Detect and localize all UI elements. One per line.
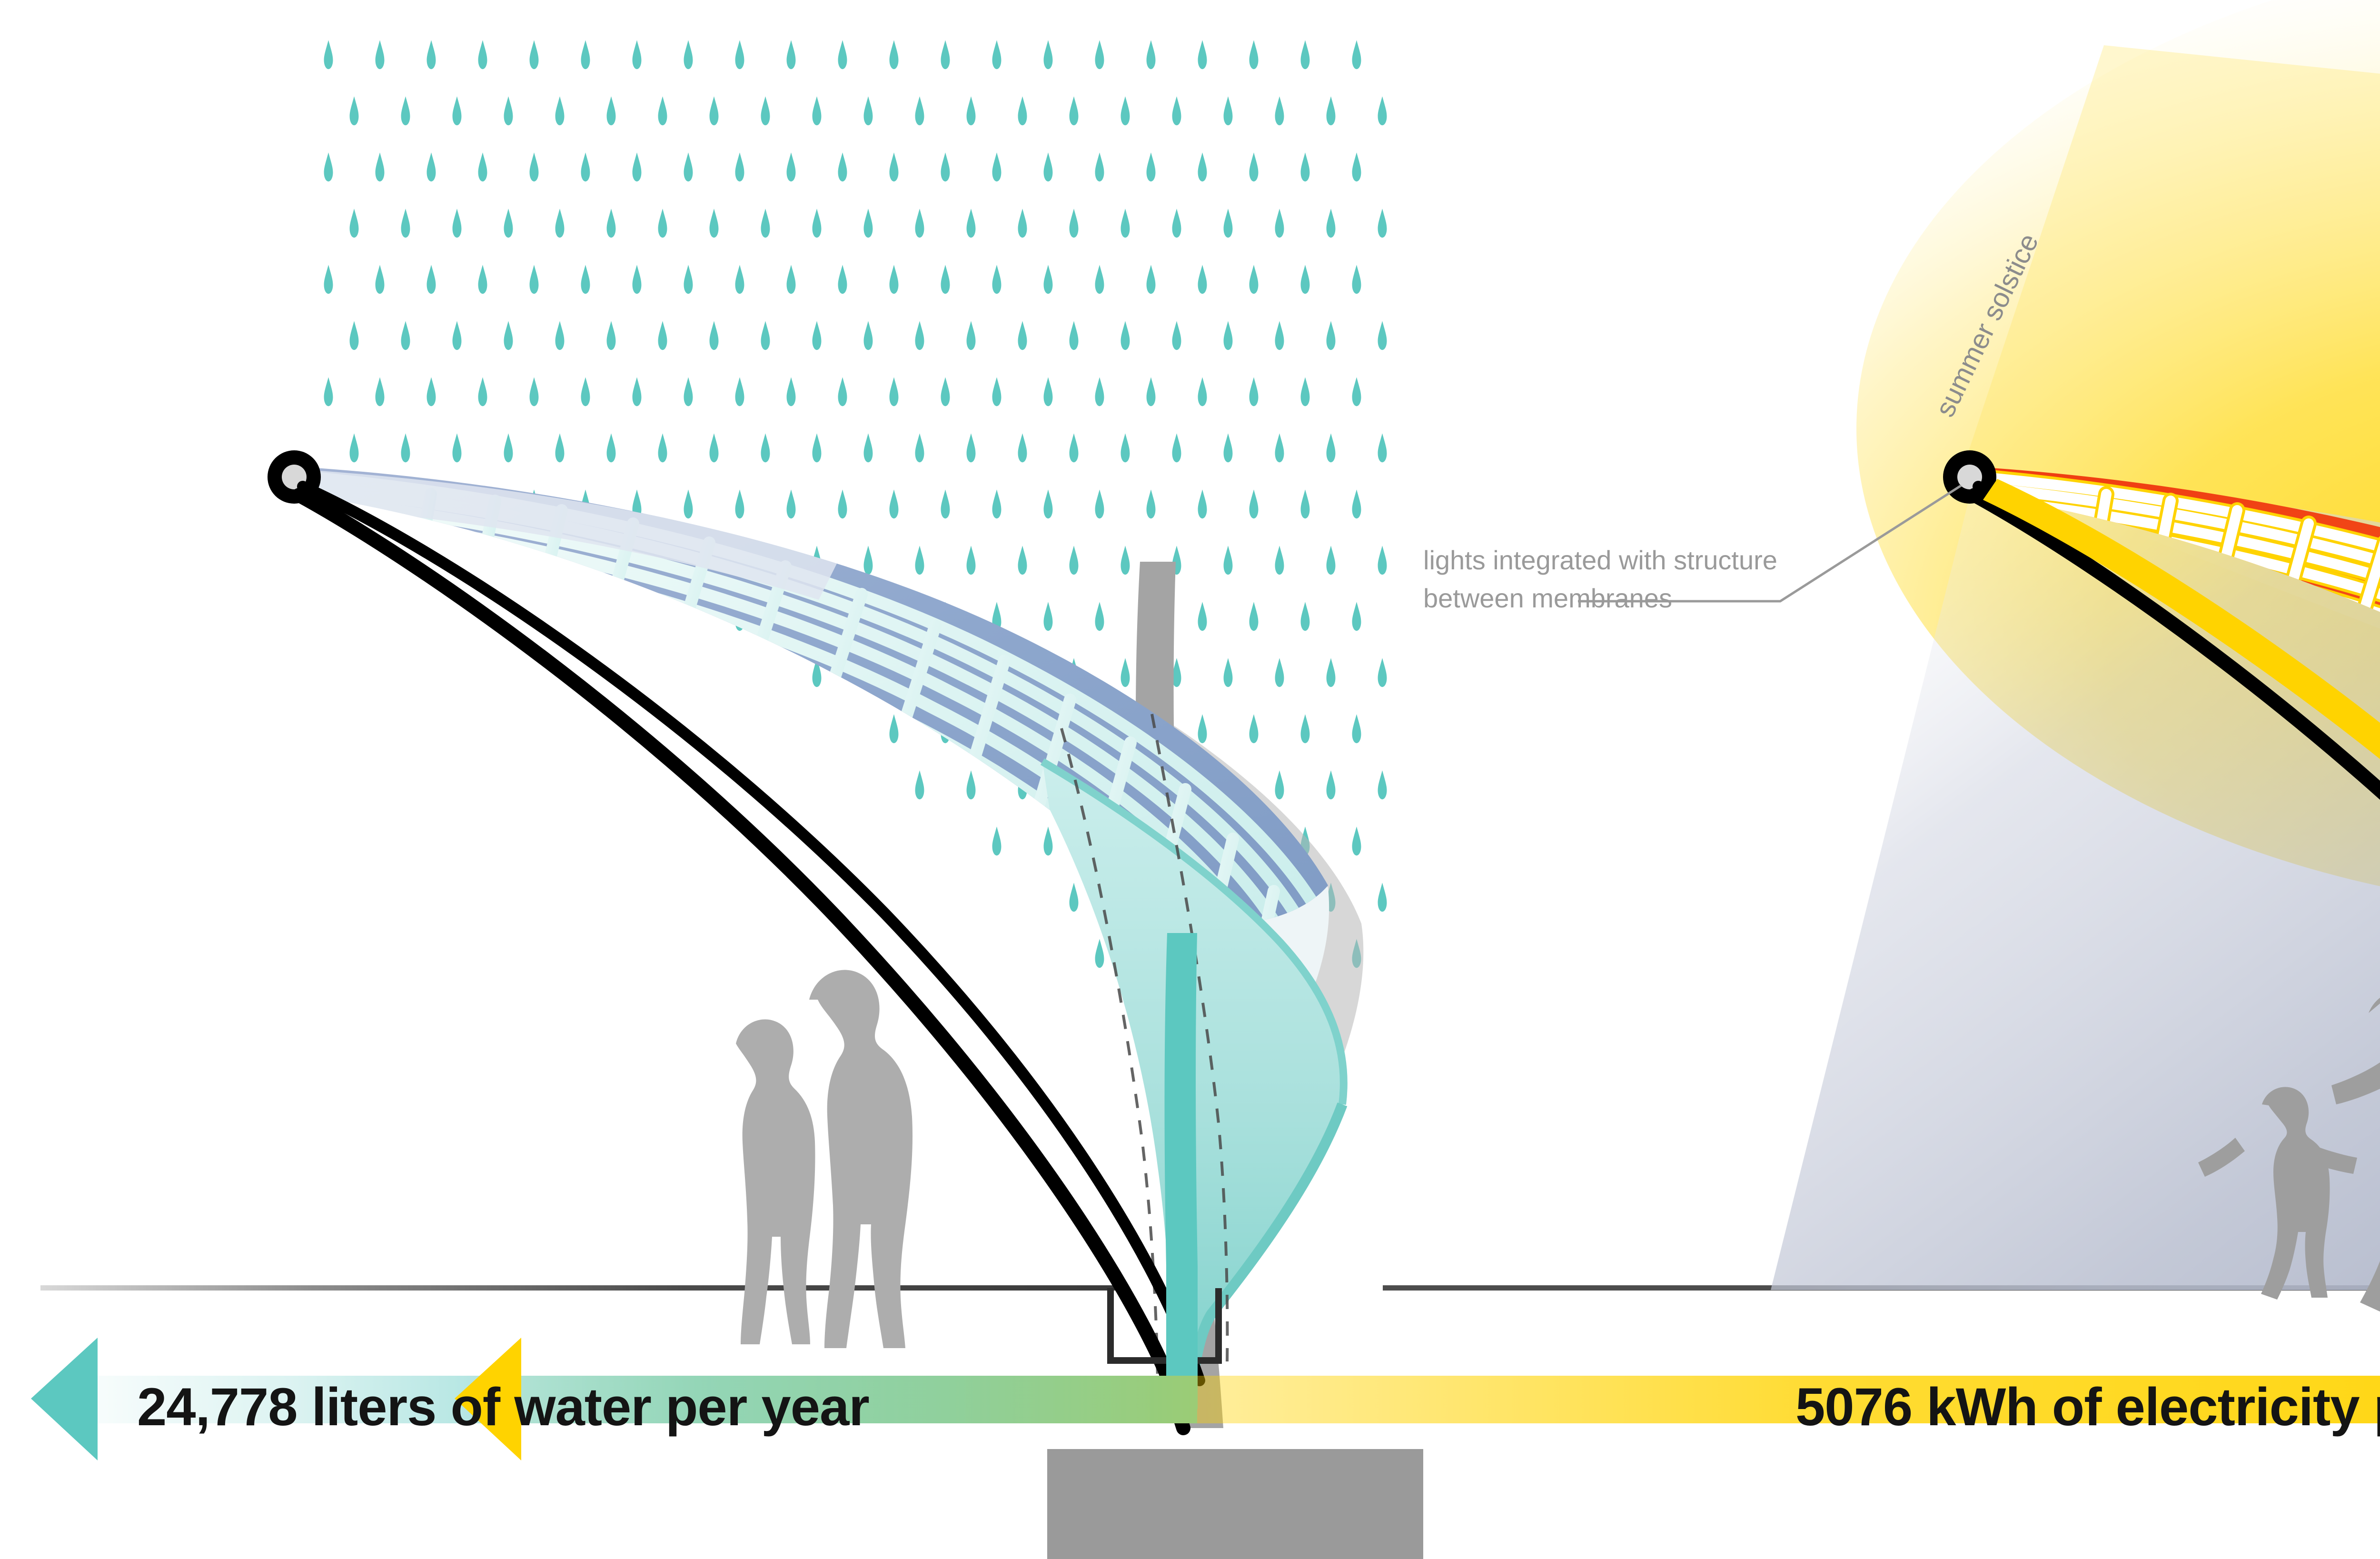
raindrop-icon — [350, 433, 359, 462]
raindrop-icon — [1327, 209, 1336, 238]
raindrop-icon — [376, 40, 385, 69]
raindrop-icon — [1224, 433, 1233, 462]
raindrop-icon — [1301, 377, 1310, 406]
raindrop-icon — [1070, 209, 1079, 238]
raindrop-icon — [915, 433, 924, 462]
raindrop-icon — [530, 265, 539, 294]
raindrop-icon — [324, 152, 333, 181]
raindrop-icon — [1249, 489, 1259, 518]
raindrop-icon — [941, 40, 950, 69]
raindrop-icon — [658, 321, 667, 350]
raindrop-icon — [1172, 321, 1181, 350]
caption-electricity: 5076 kWh of electricity per year — [1795, 1377, 2380, 1437]
raindrop-icon — [1224, 321, 1233, 350]
raindrop-icon — [915, 96, 924, 125]
raindrop-icon — [376, 377, 385, 406]
raindrop-icon — [478, 152, 487, 181]
raindrop-icon — [633, 40, 642, 69]
raindrop-icon — [1147, 40, 1156, 69]
raindrop-icon — [504, 433, 513, 462]
raindrop-icon — [710, 433, 719, 462]
raindrop-icon — [1147, 489, 1156, 518]
raindrop-icon — [555, 96, 565, 125]
raindrop-icon — [1070, 546, 1079, 575]
raindrop-icon — [453, 321, 462, 350]
raindrop-icon — [941, 265, 950, 294]
raindrop-icon — [555, 433, 565, 462]
raindrop-icon — [1095, 602, 1104, 631]
raindrop-icon — [1378, 96, 1387, 125]
raindrop-icon — [684, 377, 693, 406]
raindrop-icon — [710, 96, 719, 125]
raindrop-icon — [1378, 209, 1387, 238]
raindrop-icon — [453, 96, 462, 125]
raindrop-icon — [1249, 265, 1259, 294]
raindrop-icon — [504, 96, 513, 125]
raindrop-icon — [555, 209, 565, 238]
raindrop-icon — [1301, 152, 1310, 181]
raindrop-icon — [967, 770, 976, 799]
raindrop-icon — [607, 96, 616, 125]
raindrop-icon — [1044, 602, 1053, 631]
raindrop-icon — [1327, 658, 1336, 687]
raindrop-icon — [1327, 770, 1336, 799]
raindrop-icon — [890, 377, 899, 406]
raindrop-icon — [1378, 883, 1387, 912]
raindrop-icon — [1172, 433, 1181, 462]
raindrop-icon — [581, 40, 590, 69]
raindrop-icon — [915, 546, 924, 575]
raindrop-icon — [1121, 321, 1130, 350]
raindrop-icon — [890, 40, 899, 69]
raindrop-icon — [1301, 40, 1310, 69]
raindrop-icon — [401, 321, 410, 350]
raindrop-icon — [1249, 377, 1259, 406]
raindrop-icon — [1044, 152, 1053, 181]
people-silhouette-left — [736, 970, 912, 1348]
raindrop-icon — [1121, 96, 1130, 125]
raindrop-icon — [530, 152, 539, 181]
raindrop-icon — [838, 489, 847, 518]
raindrop-icon — [890, 265, 899, 294]
raindrop-icon — [941, 152, 950, 181]
raindrop-icon — [658, 433, 667, 462]
raindrop-icon — [1327, 96, 1336, 125]
raindrop-icon — [478, 40, 487, 69]
raindrop-icon — [864, 433, 873, 462]
raindrop-icon — [1095, 265, 1104, 294]
raindrop-icon — [1249, 152, 1259, 181]
raindrop-icon — [890, 714, 899, 743]
raindrop-icon — [607, 209, 616, 238]
raindrop-icon — [1275, 546, 1284, 575]
raindrop-icon — [992, 40, 1002, 69]
raindrop-icon — [992, 489, 1002, 518]
raindrop-icon — [1121, 658, 1130, 687]
raindrop-icon — [1121, 433, 1130, 462]
raindrop-icon — [684, 265, 693, 294]
raindrop-icon — [1095, 939, 1104, 968]
raindrop-icon — [1018, 433, 1027, 462]
raindrop-icon — [684, 489, 693, 518]
raindrop-icon — [1018, 546, 1027, 575]
arrow-left-icon-water[interactable] — [31, 1338, 98, 1460]
raindrop-icon — [992, 265, 1002, 294]
raindrop-icon — [376, 152, 385, 181]
raindrop-icon — [1352, 714, 1361, 743]
caption-water: 24,778 liters of water per year — [137, 1377, 869, 1437]
raindrop-icon — [864, 96, 873, 125]
raindrop-icon — [864, 546, 873, 575]
raindrop-icon — [453, 209, 462, 238]
raindrop-icon — [1275, 209, 1284, 238]
raindrop-icon — [813, 321, 822, 350]
raindrop-icon — [1172, 209, 1181, 238]
raindrop-icon — [735, 152, 744, 181]
raindrop-icon — [1378, 770, 1387, 799]
raindrop-icon — [1147, 377, 1156, 406]
raindrop-icon — [1070, 96, 1079, 125]
raindrop-icon — [1044, 40, 1053, 69]
raindrop-icon — [992, 377, 1002, 406]
raindrop-icon — [1275, 770, 1284, 799]
raindrop-icon — [1301, 489, 1310, 518]
raindrop-icon — [1378, 433, 1387, 462]
raindrop-icon — [1147, 265, 1156, 294]
raindrop-icon — [1352, 152, 1361, 181]
raindrop-icon — [941, 377, 950, 406]
raindrop-icon — [581, 152, 590, 181]
raindrop-icon — [967, 433, 976, 462]
raindrop-icon — [633, 152, 642, 181]
raindrop-icon — [1327, 546, 1336, 575]
raindrop-icon — [864, 209, 873, 238]
section-diagram: lights integrated with structure between… — [0, 0, 2380, 1559]
raindrop-icon — [1301, 714, 1310, 743]
raindrop-icon — [1327, 433, 1336, 462]
raindrop-icon — [813, 96, 822, 125]
raindrop-icon — [401, 433, 410, 462]
raindrop-icon — [478, 377, 487, 406]
raindrop-icon — [633, 265, 642, 294]
raindrop-icon — [1198, 714, 1207, 743]
raindrop-icon — [350, 209, 359, 238]
raindrop-icon — [813, 209, 822, 238]
raindrop-icon — [530, 40, 539, 69]
raindrop-icon — [838, 152, 847, 181]
raindrop-icon — [1198, 40, 1207, 69]
raindrop-icon — [1352, 489, 1361, 518]
raindrop-icon — [427, 265, 436, 294]
raindrop-icon — [658, 96, 667, 125]
annotation-lights-line2: between membranes — [1423, 583, 1672, 613]
raindrop-icon — [607, 321, 616, 350]
raindrop-icon — [1095, 377, 1104, 406]
raindrop-icon — [787, 489, 796, 518]
raindrop-icon — [453, 433, 462, 462]
raindrop-icon — [967, 209, 976, 238]
raindrop-icon — [1070, 321, 1079, 350]
raindrop-icon — [658, 209, 667, 238]
raindrop-icon — [1018, 209, 1027, 238]
raindrop-icon — [710, 209, 719, 238]
raindrop-icon — [1352, 40, 1361, 69]
raindrop-icon — [1121, 546, 1130, 575]
raindrop-icon — [478, 265, 487, 294]
raindrop-icon — [1275, 321, 1284, 350]
raindrop-icon — [1070, 883, 1079, 912]
raindrop-icon — [735, 40, 744, 69]
raindrop-icon — [1198, 602, 1207, 631]
raindrop-icon — [1275, 658, 1284, 687]
diagram-canvas: lights integrated with structure between… — [0, 0, 2380, 1559]
raindrop-icon — [427, 152, 436, 181]
raindrop-icon — [1224, 658, 1233, 687]
raindrop-icon — [684, 152, 693, 181]
raindrop-icon — [1198, 265, 1207, 294]
raindrop-icon — [1378, 658, 1387, 687]
raindrop-icon — [1352, 826, 1361, 855]
raindrop-icon — [838, 40, 847, 69]
raindrop-icon — [633, 377, 642, 406]
raindrop-icon — [1249, 602, 1259, 631]
raindrop-icon — [735, 377, 744, 406]
raindrop-icon — [1378, 546, 1387, 575]
raindrop-icon — [1352, 602, 1361, 631]
raindrop-icon — [504, 209, 513, 238]
raindrop-icon — [761, 96, 770, 125]
raindrop-icon — [376, 265, 385, 294]
raindrop-icon — [1121, 209, 1130, 238]
raindrop-icon — [427, 377, 436, 406]
raindrop-icon — [324, 377, 333, 406]
raindrop-icon — [1044, 265, 1053, 294]
raindrop-icon — [1147, 152, 1156, 181]
raindrop-icon — [992, 152, 1002, 181]
raindrop-icon — [1224, 546, 1233, 575]
raindrop-icon — [710, 321, 719, 350]
raindrop-icon — [401, 209, 410, 238]
raindrop-icon — [504, 321, 513, 350]
annotation-lights-line1: lights integrated with structure — [1423, 545, 1777, 575]
raindrop-icon — [992, 826, 1002, 855]
raindrop-icon — [761, 321, 770, 350]
raindrop-icon — [1044, 377, 1053, 406]
raindrop-icon — [864, 321, 873, 350]
raindrop-icon — [967, 96, 976, 125]
raindrop-icon — [324, 40, 333, 69]
raindrop-icon — [787, 152, 796, 181]
raindrop-icon — [735, 489, 744, 518]
raindrop-icon — [1378, 321, 1387, 350]
raindrop-icon — [967, 321, 976, 350]
raindrop-icon — [607, 433, 616, 462]
raindrop-icon — [1018, 321, 1027, 350]
raindrop-icon — [684, 40, 693, 69]
raindrop-icon — [1352, 377, 1361, 406]
raindrop-icon — [915, 321, 924, 350]
raindrop-icon — [350, 321, 359, 350]
raindrop-icon — [1249, 40, 1259, 69]
raindrop-icon — [401, 96, 410, 125]
water-downpipe — [1165, 933, 1198, 1409]
raindrop-icon — [1095, 40, 1104, 69]
raindrop-icon — [915, 770, 924, 799]
raindrop-icon — [787, 40, 796, 69]
raindrop-icon — [1018, 96, 1027, 125]
raindrop-icon — [1198, 489, 1207, 518]
raindrop-icon — [838, 377, 847, 406]
raindrop-icon — [1070, 433, 1079, 462]
raindrop-icon — [530, 377, 539, 406]
raindrop-icon — [735, 265, 744, 294]
raindrop-icon — [915, 209, 924, 238]
raindrop-icon — [1301, 265, 1310, 294]
raindrop-icon — [581, 377, 590, 406]
raindrop-icon — [1301, 602, 1310, 631]
raindrop-icon — [1275, 433, 1284, 462]
raindrop-icon — [761, 209, 770, 238]
raindrop-icon — [787, 265, 796, 294]
raindrop-icon — [581, 265, 590, 294]
raindrop-icon — [1198, 377, 1207, 406]
raindrop-icon — [813, 433, 822, 462]
raindrop-icon — [941, 489, 950, 518]
raindrop-icon — [787, 377, 796, 406]
raindrop-icon — [1224, 96, 1233, 125]
raindrop-icon — [838, 265, 847, 294]
raindrop-icon — [1044, 826, 1053, 855]
raindrop-icon — [1224, 209, 1233, 238]
raindrop-icon — [761, 433, 770, 462]
raindrop-icon — [1249, 714, 1259, 743]
raindrop-icon — [890, 152, 899, 181]
raindrop-icon — [1044, 489, 1053, 518]
raindrop-icon — [555, 321, 565, 350]
raindrop-icon — [1352, 265, 1361, 294]
raindrop-icon — [1095, 152, 1104, 181]
raindrop-icon — [1275, 96, 1284, 125]
raindrop-icon — [1095, 489, 1104, 518]
raindrop-icon — [427, 40, 436, 69]
raindrop-icon — [1172, 96, 1181, 125]
raindrop-icon — [1198, 152, 1207, 181]
raindrop-icon — [967, 546, 976, 575]
raindrop-icon — [890, 489, 899, 518]
raindrop-icon — [350, 96, 359, 125]
raindrop-icon — [1327, 321, 1336, 350]
raindrop-icon — [324, 265, 333, 294]
